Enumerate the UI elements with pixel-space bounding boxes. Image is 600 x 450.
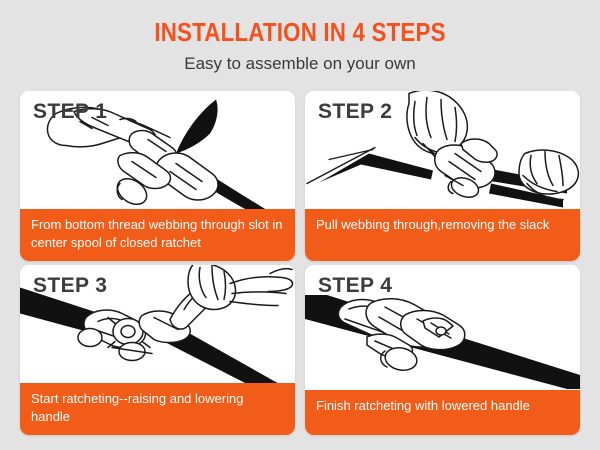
step-1-label: STEP 1: [33, 100, 107, 124]
step-1-caption: From bottom thread webbing through slot …: [20, 209, 295, 261]
step-4-caption: Finish ratcheting with lowered handle: [305, 390, 580, 435]
page-title: INSTALLATION IN 4 STEPS: [42, 18, 558, 47]
step-3-caption: Start ratcheting--raising and lowering h…: [20, 383, 295, 435]
step-3-label: STEP 3: [33, 274, 107, 298]
step-card-4[interactable]: STEP 4 Finish ratcheting with lowered ha…: [305, 265, 580, 435]
step-card-3[interactable]: STEP 3 Start ratcheting--raising and low…: [20, 265, 295, 435]
page-subtitle: Easy to assemble on your own: [0, 54, 600, 74]
step-2-caption: Pull webbing through,removing the slack: [305, 209, 580, 261]
step-1-illustration: STEP 1: [20, 91, 295, 209]
step-3-illustration: STEP 3: [20, 265, 295, 383]
step-2-label: STEP 2: [318, 100, 392, 124]
step-4-illustration: STEP 4: [305, 265, 580, 390]
installation-steps-infographic: INSTALLATION IN 4 STEPS Easy to assemble…: [0, 0, 600, 450]
step-card-2[interactable]: STEP 2 Pull webbing through,removing the…: [305, 91, 580, 261]
step-4-label: STEP 4: [318, 274, 392, 298]
step-card-1[interactable]: STEP 1 From bottom thread webbing throug…: [20, 91, 295, 261]
header: INSTALLATION IN 4 STEPS Easy to assemble…: [0, 0, 600, 74]
step-2-illustration: STEP 2: [305, 91, 580, 209]
steps-grid: STEP 1 From bottom thread webbing throug…: [20, 91, 580, 435]
